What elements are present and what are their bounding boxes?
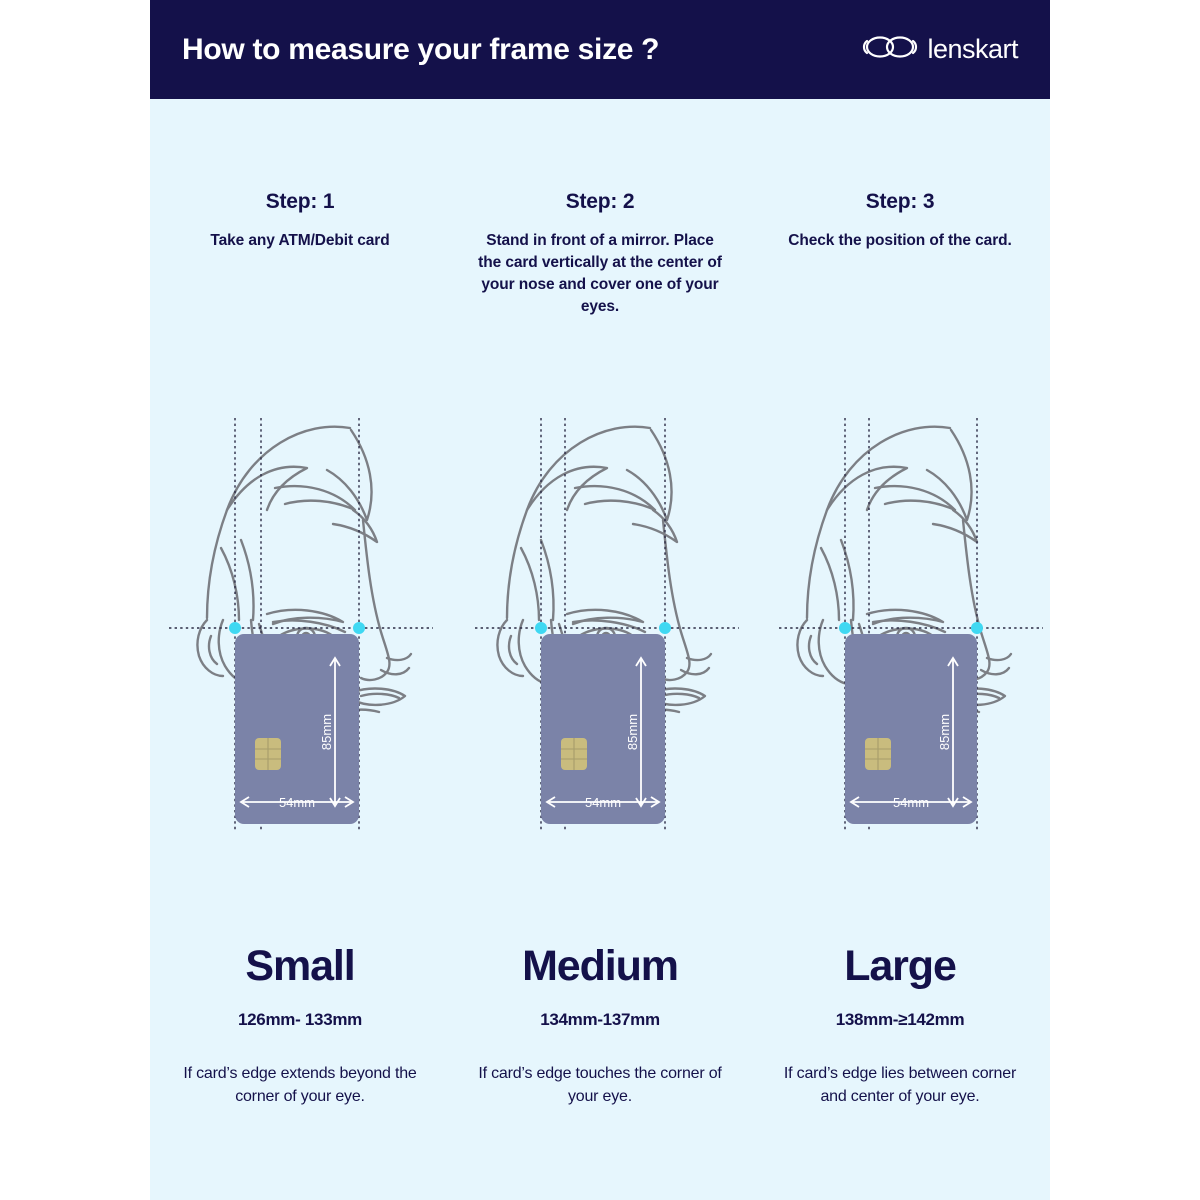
step-title: Step: 3 [764,190,1036,214]
brand-logo: lenskart [862,32,1018,67]
eye-inner-marker [971,622,983,634]
small-face-card-diagram: 85mm 54mm [155,370,445,840]
step-title: Step: 1 [164,190,436,214]
step-2: Step: 2 Stand in front of a mirror. Plac… [450,190,750,318]
debit-card: 85mm 54mm [541,634,665,824]
step-1: Step: 1 Take any ATM/Debit card [150,190,450,318]
card-width-label: 54mm [585,795,621,810]
card-width-label: 54mm [893,795,929,810]
step-title: Step: 2 [464,190,736,214]
step-description: Check the position of the card. [775,230,1025,252]
size-range: 126mm- 133mm [158,1010,442,1030]
size-note: If card’s edge touches the corner of you… [469,1062,731,1108]
illustration-medium: 85mm 54mm [450,370,750,850]
size-note: If card’s edge extends beyond the corner… [169,1062,431,1108]
illustrations-row: 85mm 54mm [150,370,1050,850]
card-height-label: 85mm [625,714,640,750]
step-3: Step: 3 Check the position of the card. [750,190,1050,318]
medium-face-card-diagram: 85mm 54mm [455,370,745,840]
steps-row: Step: 1 Take any ATM/Debit card Step: 2 … [150,190,1050,318]
brand-name: lenskart [927,34,1018,65]
size-small: Small 126mm- 133mm If card’s edge extend… [150,945,450,1108]
page-header: How to measure your frame size ? lenskar… [150,0,1050,99]
step-description: Stand in front of a mirror. Place the ca… [475,230,725,318]
eye-corner-marker [839,622,851,634]
lenskart-infinity-glasses-icon [862,32,918,67]
large-face-card-diagram: 85mm 54mm [755,370,1045,840]
debit-card: 85mm 54mm [845,634,977,824]
page-title: How to measure your frame size ? [182,33,659,67]
size-range: 134mm-137mm [458,1010,742,1030]
size-name: Small [158,945,442,988]
card-height-label: 85mm [937,714,952,750]
card-width-label: 54mm [279,795,315,810]
size-range: 138mm-≥142mm [758,1010,1042,1030]
size-large: Large 138mm-≥142mm If card’s edge lies b… [750,945,1050,1108]
debit-card: 85mm 54mm [235,634,359,824]
size-note: If card’s edge lies between corner and c… [769,1062,1031,1108]
eye-inner-marker [353,622,365,634]
illustration-large: 85mm 54mm [750,370,1050,850]
eye-corner-marker [535,622,547,634]
eye-inner-marker [659,622,671,634]
size-name: Medium [458,945,742,988]
card-height-label: 85mm [319,714,334,750]
sizes-row: Small 126mm- 133mm If card’s edge extend… [150,945,1050,1108]
eye-corner-marker [229,622,241,634]
infographic-page: How to measure your frame size ? lenskar… [0,0,1200,1200]
step-description: Take any ATM/Debit card [175,230,425,252]
illustration-small: 85mm 54mm [150,370,450,850]
size-medium: Medium 134mm-137mm If card’s edge touche… [450,945,750,1108]
size-name: Large [758,945,1042,988]
